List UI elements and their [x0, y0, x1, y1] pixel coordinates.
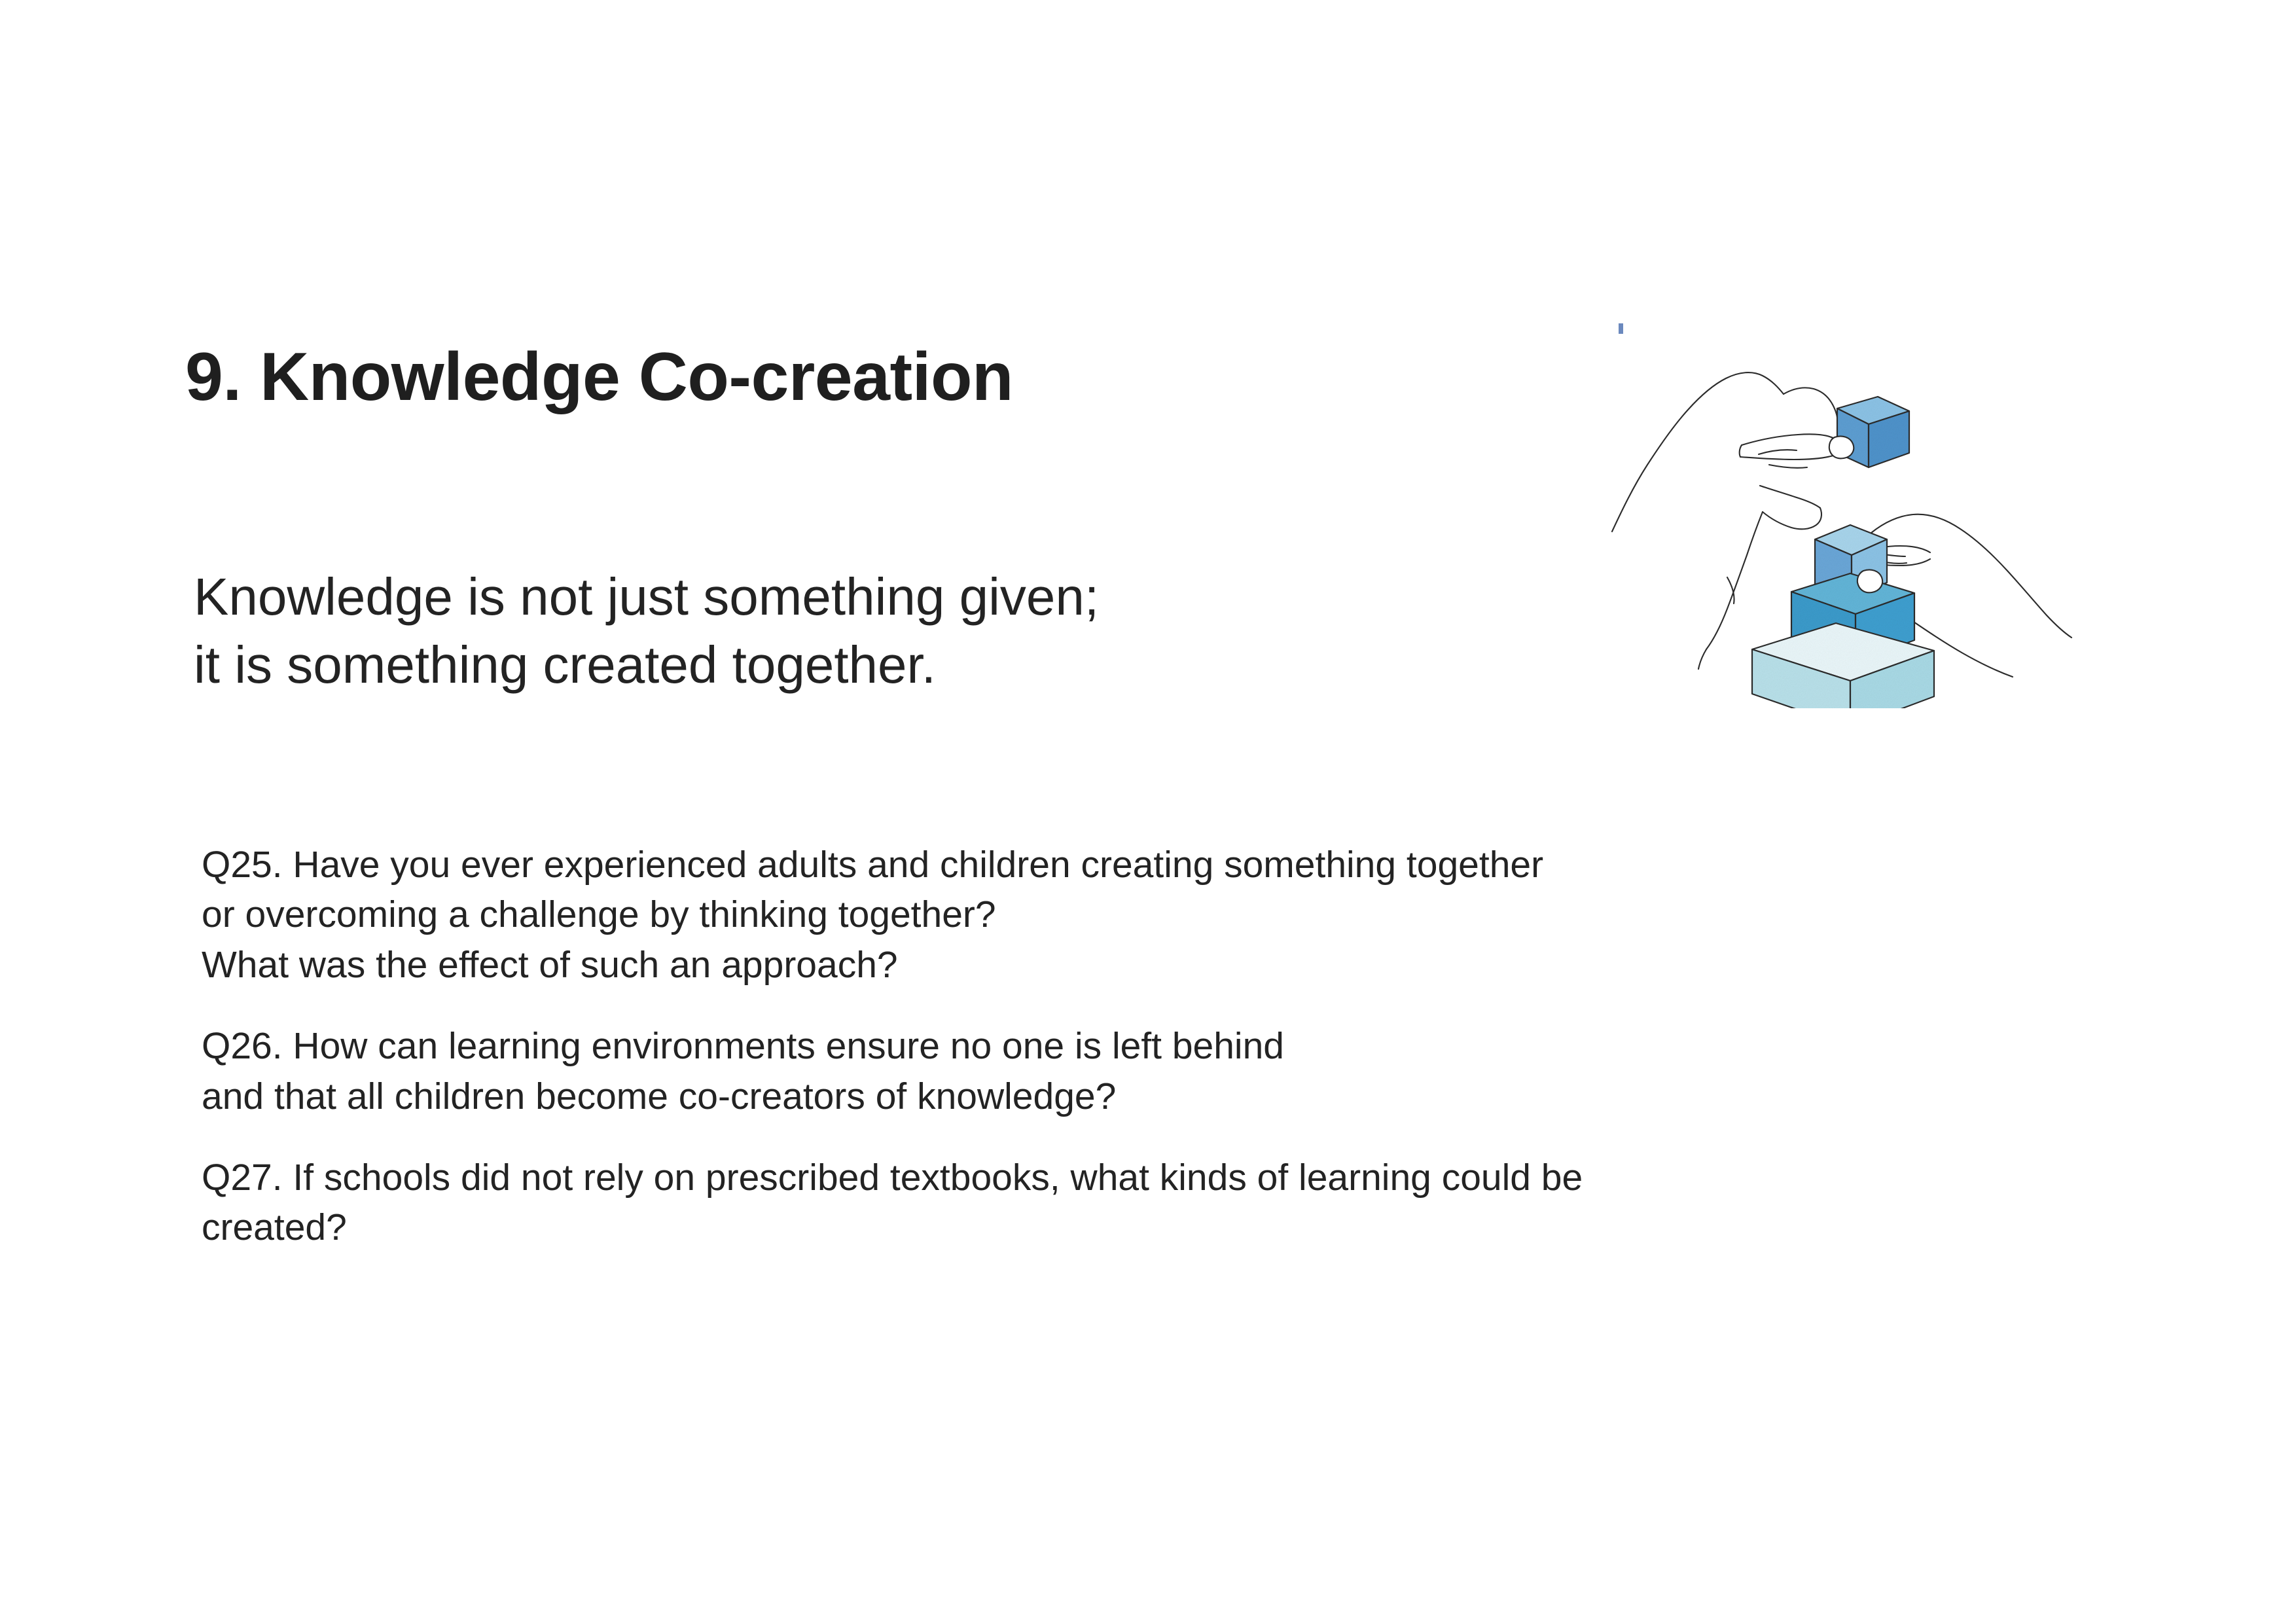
- right-hand-fingertip-overlap: [1857, 569, 1882, 592]
- question-line: Q27. If schools did not rely on prescrib…: [202, 1153, 1969, 1202]
- upper-hand-fingertip-overlap: [1829, 436, 1854, 458]
- question-block-q27: Q27. If schools did not rely on prescrib…: [202, 1153, 1969, 1253]
- question-block-q25: Q25. Have you ever experienced adults an…: [202, 840, 1969, 990]
- upper-hand-knuckle-ridge: [1784, 388, 1838, 428]
- question-line: and that all children become co-creators…: [202, 1072, 1969, 1121]
- upper-hand-index-fingertip: [1740, 445, 1742, 457]
- question-line: Q26. How can learning environments ensur…: [202, 1021, 1969, 1071]
- upper-hand-wrist-lower: [1698, 649, 1706, 669]
- lead-line-2: it is something created together.: [194, 631, 1099, 699]
- upper-hand-middle-finger-crease: [1759, 450, 1797, 454]
- upper-hand-back-outline: [1612, 372, 1784, 532]
- hands-stacking-blocks-illustration: [1607, 296, 2078, 708]
- question-line: Q25. Have you ever experienced adults an…: [202, 840, 1969, 890]
- upper-hand-index-finger-bottom: [1740, 456, 1833, 460]
- question-line: or overcoming a challenge by thinking to…: [202, 890, 1969, 939]
- question-line: created?: [202, 1202, 1969, 1252]
- upper-hand-thumb-bottom: [1763, 508, 1821, 529]
- upper-hand-palm-edge: [1706, 512, 1763, 649]
- question-list: Q25. Have you ever experienced adults an…: [202, 840, 1969, 1253]
- lead-statement: Knowledge is not just something given; i…: [194, 563, 1099, 699]
- question-line: What was the effect of such an approach?: [202, 940, 1969, 990]
- upper-hand-index-finger-top: [1742, 434, 1835, 445]
- lead-line-1: Knowledge is not just something given;: [194, 563, 1099, 631]
- upper-hand-thumb-top: [1760, 486, 1820, 508]
- slide-canvas: 9. Knowledge Co-creation Knowledge is no…: [0, 0, 2296, 1624]
- page-title: 9. Knowledge Co-creation: [185, 342, 1013, 413]
- question-block-q26: Q26. How can learning environments ensur…: [202, 1021, 1969, 1121]
- upper-hand-finger-crease-2: [1769, 465, 1807, 468]
